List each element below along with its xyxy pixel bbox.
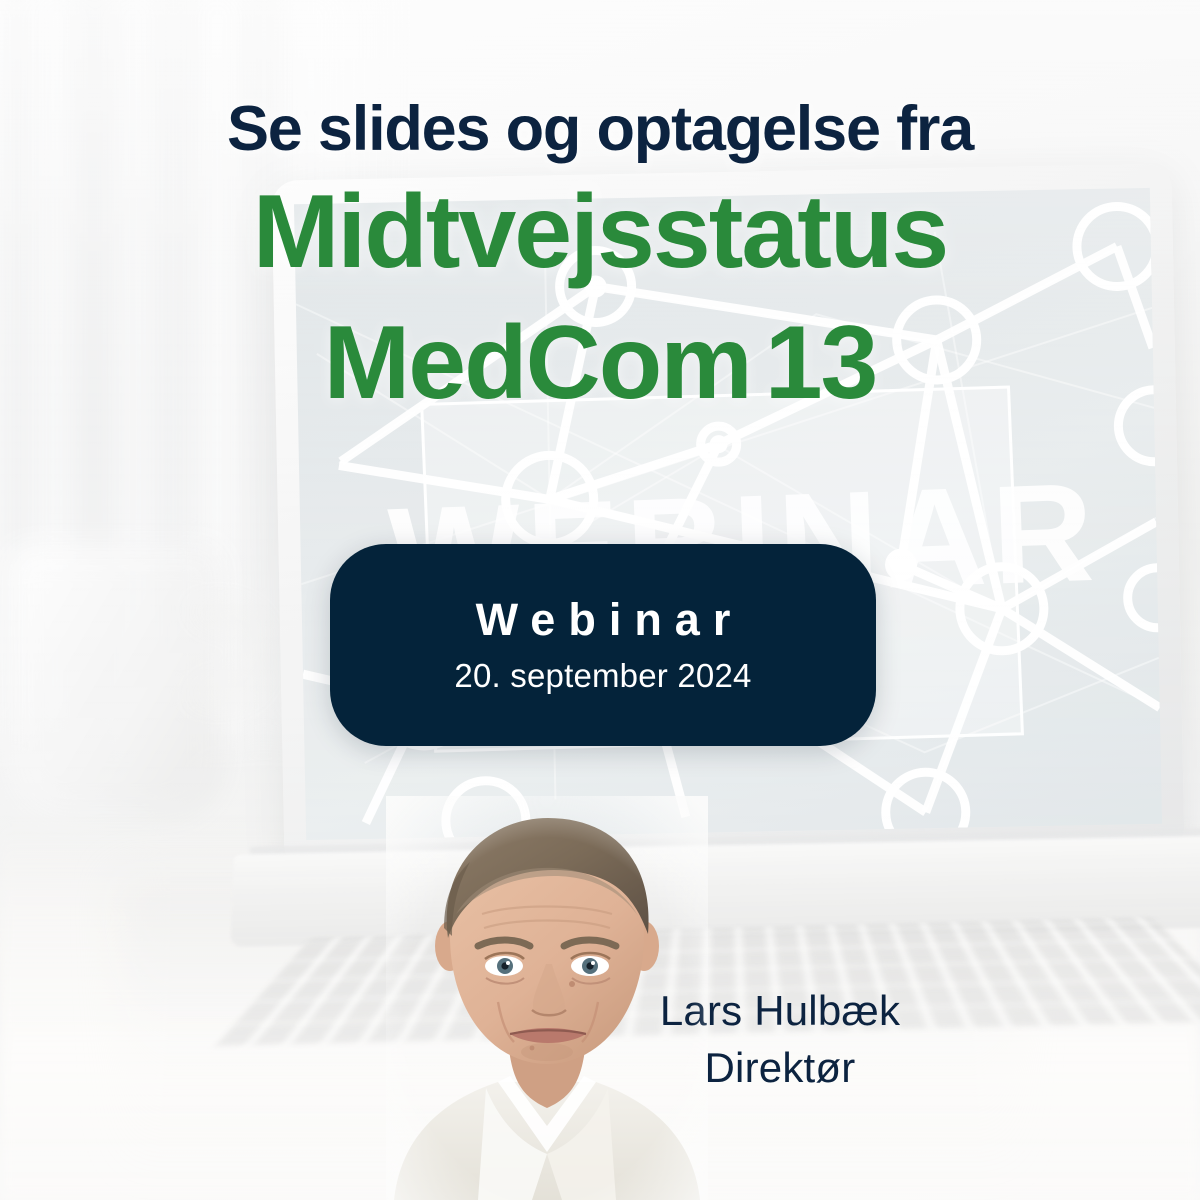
badge-date: 20. september 2024 — [454, 657, 751, 695]
title-line-2: MedCom13 — [0, 305, 1200, 421]
title-line-2-word: MedCom — [324, 305, 751, 421]
title-line-2-number: 13 — [765, 305, 877, 421]
speaker-portrait-photo — [386, 796, 708, 1200]
badge-label: Webinar — [463, 595, 744, 645]
title-line-1: Midtvejsstatus — [0, 174, 1200, 290]
webinar-badge: Webinar 20. september 2024 — [330, 544, 876, 746]
headline-block: Se slides og optagelse fra Midtvejsstatu… — [0, 0, 1200, 421]
webinar-promo-poster: WEBINAR Se slides og optagelse fra Midtv… — [0, 0, 1200, 1200]
kicker-text: Se slides og optagelse fra — [0, 96, 1200, 162]
